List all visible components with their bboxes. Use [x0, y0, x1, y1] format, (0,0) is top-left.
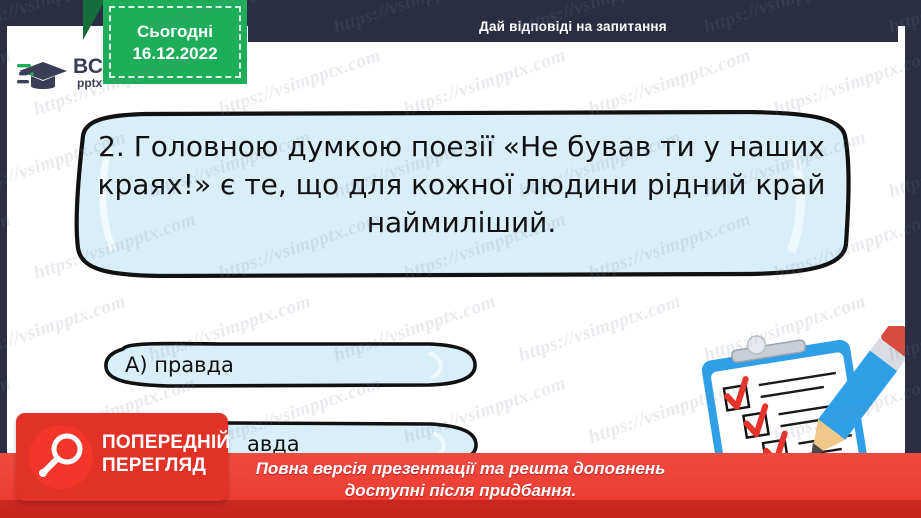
magnifier-icon: [29, 425, 93, 489]
header-title: Дай відповіді на запитання: [479, 19, 667, 34]
purchase-banner-line1: Повна версія презентації та решта доповн…: [256, 458, 666, 480]
preview-badge[interactable]: ПОПЕРЕДНІЙ ПЕРЕГЛЯД: [16, 413, 228, 501]
preview-badge-text: ПОПЕРЕДНІЙ ПЕРЕГЛЯД: [102, 431, 230, 477]
date-badge-label: Сьогодні: [137, 23, 213, 40]
graduation-cap-icon: [17, 56, 69, 96]
ribbon-tail: [83, 0, 105, 40]
date-badge-value: 16.12.2022: [132, 45, 217, 62]
purchase-banner-line2: доступні після придбання.: [345, 480, 576, 502]
preview-badge-line1: ПОПЕРЕДНІЙ: [102, 431, 230, 454]
preview-badge-line2: ПЕРЕГЛЯД: [102, 454, 230, 477]
option-a-label: А) правда: [125, 341, 234, 388]
header-bar: Дай відповіді на запитання: [248, 11, 898, 42]
question-text: 2. Головною думкою поезії «Не бував ти у…: [79, 128, 844, 242]
date-badge: Сьогодні 16.12.2022: [103, 0, 247, 84]
option-a[interactable]: А) правда: [99, 341, 479, 388]
slide-root: 2. Головною думкою поезії «Не бував ти у…: [0, 0, 921, 518]
question-bubble: 2. Головною думкою поезії «Не бував ти у…: [49, 110, 874, 278]
brand-suffix: pptx: [77, 77, 102, 89]
